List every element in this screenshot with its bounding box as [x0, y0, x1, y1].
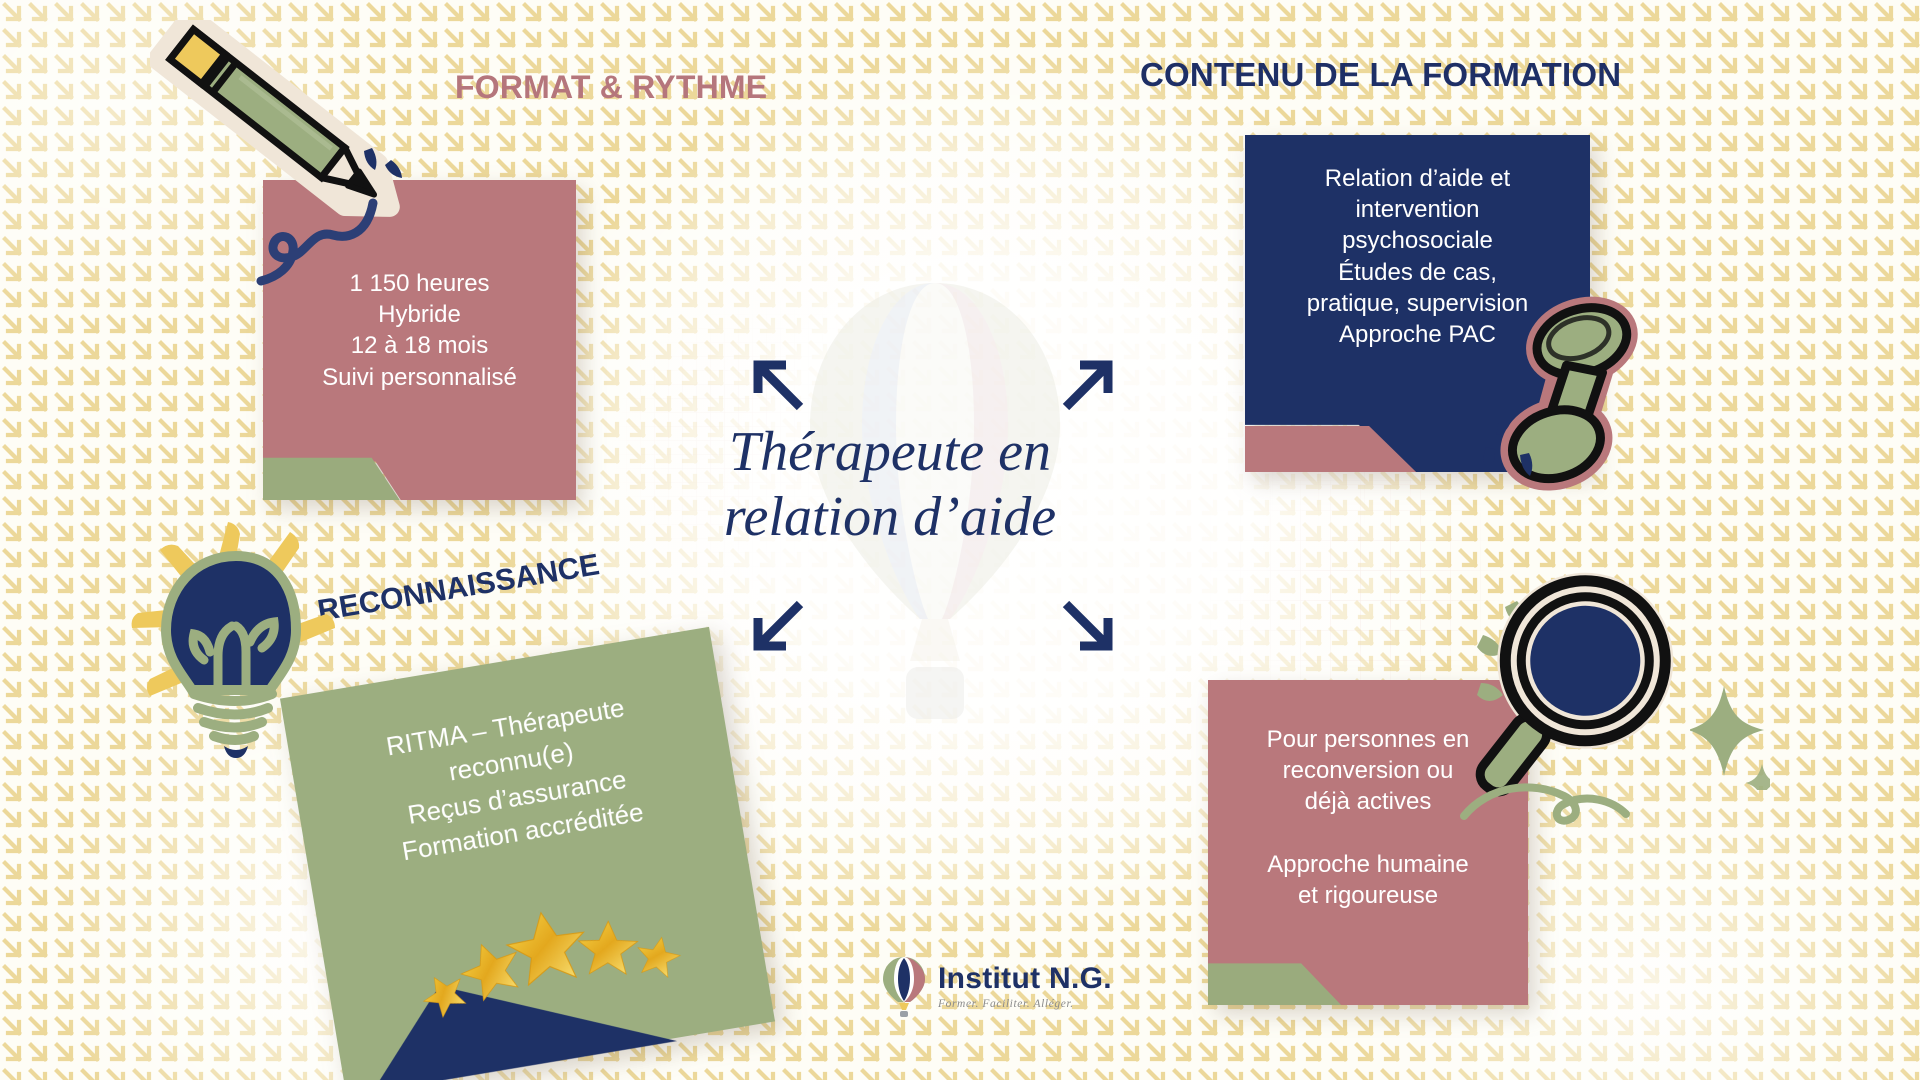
brand-logo: Institut N.G. Former. Faciliter. Alléger… — [880, 955, 1112, 1019]
infographic-canvas: Thérapeute en relation d’aide FORMAT & R… — [0, 0, 1920, 1080]
green-swoosh-icon — [1460, 770, 1630, 840]
scribble-swirl-icon — [255, 195, 385, 305]
section-title-format: FORMAT & RYTHME — [455, 69, 767, 106]
lightbulb-icon — [120, 510, 350, 760]
brand-name: Institut N.G. — [938, 964, 1112, 994]
hot-air-balloon-logo-icon — [880, 955, 928, 1019]
brand-tagline: Former. Faciliter. Alléger. — [938, 999, 1112, 1011]
star-icon — [578, 921, 638, 974]
arrow-up-left-icon — [748, 355, 806, 413]
arrow-up-right-icon — [1060, 355, 1118, 413]
star-icon — [503, 906, 591, 987]
page-title: Thérapeute en relation d’aide — [640, 420, 1140, 550]
arrow-down-left-icon — [748, 598, 806, 656]
arrow-down-right-icon — [1060, 598, 1118, 656]
pushpin-icon — [1480, 295, 1665, 510]
card-reconnaissance: RITMA – Thérapeute reconnu(e) Reçus d’as… — [280, 627, 775, 1080]
star-icon — [634, 933, 683, 978]
section-title-contenu: CONTENU DE LA FORMATION — [1140, 56, 1621, 94]
